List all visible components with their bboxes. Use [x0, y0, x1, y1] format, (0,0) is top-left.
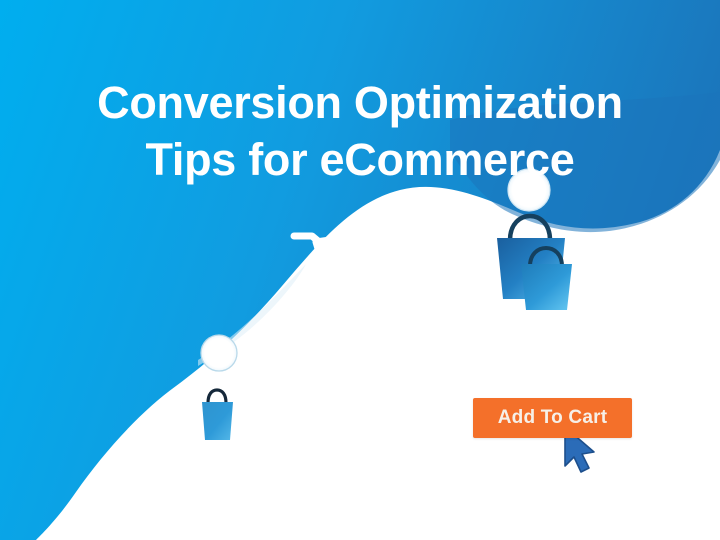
slide-canvas: Conversion Optimization Tips for eCommer… [0, 0, 720, 540]
page-title: Conversion Optimization Tips for eCommer… [0, 74, 720, 188]
decorative-circle-left [201, 335, 237, 371]
add-to-cart-button[interactable]: Add To Cart [473, 398, 632, 438]
